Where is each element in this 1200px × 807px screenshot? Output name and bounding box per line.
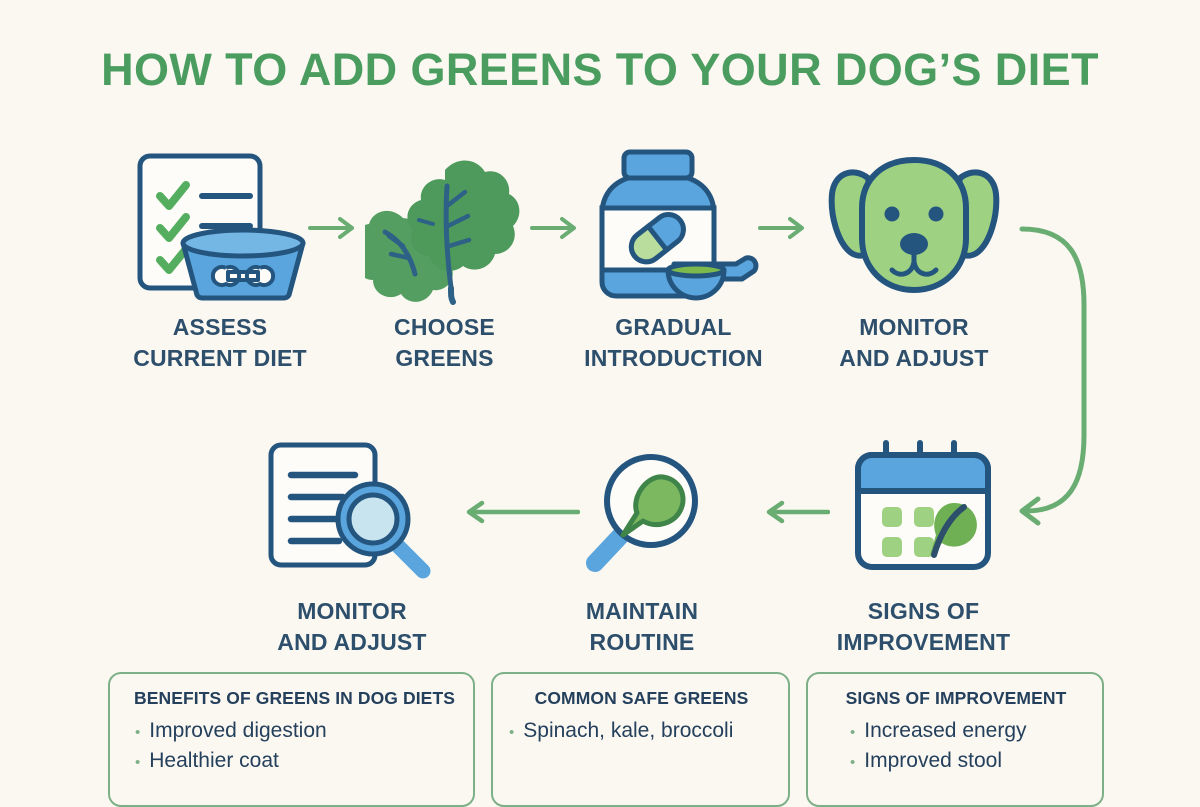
bullet-icon: • bbox=[850, 755, 855, 770]
step-label: ASSESS CURRENT DIET bbox=[110, 312, 330, 373]
card-heading: BENEFITS OF GREENS IN DOG DIETS bbox=[132, 688, 457, 709]
list-item-text: Improved digestion bbox=[149, 716, 326, 746]
step-label: CHOOSE GREENS bbox=[362, 312, 527, 373]
info-card-common-safe-greens: COMMON SAFE GREENS • Spinach, kale, broc… bbox=[491, 672, 790, 807]
step-label: MONITOR AND ADJUST bbox=[818, 312, 1010, 373]
calendar-leaf-icon bbox=[820, 430, 1027, 590]
bullet-icon: • bbox=[135, 755, 140, 770]
bullet-icon: • bbox=[850, 725, 855, 740]
step-choose-greens: CHOOSE GREENS bbox=[362, 146, 527, 373]
info-card-signs-of-improvement: SIGNS OF IMPROVEMENT • Increased energy … bbox=[806, 672, 1104, 807]
magnifier-leaf-icon bbox=[528, 430, 756, 590]
page-title: HOW TO ADD GREENS TO YOUR DOG’S DIET bbox=[0, 44, 1200, 96]
dog-face-icon bbox=[818, 146, 1010, 306]
step-label: GRADUAL INTRODUCTION bbox=[556, 312, 791, 373]
step-gradual-introduction: GRADUAL INTRODUCTION bbox=[556, 146, 791, 373]
bullet-icon: • bbox=[135, 725, 140, 740]
list-item-text: Improved stool bbox=[864, 746, 1002, 776]
card-list: • Improved digestion • Healthier coat bbox=[135, 716, 457, 776]
list-item-text: Increased energy bbox=[864, 716, 1026, 746]
list-item: • Spinach, kale, broccoli bbox=[509, 716, 772, 746]
list-item: • Healthier coat bbox=[135, 746, 457, 776]
step-label: MONITOR AND ADJUST bbox=[243, 596, 461, 657]
document-magnifier-icon bbox=[243, 430, 461, 590]
spinach-leaves-icon bbox=[362, 146, 527, 306]
list-item: • Increased energy bbox=[850, 716, 1086, 746]
step-assess-current-diet: ASSESS CURRENT DIET bbox=[110, 146, 330, 373]
step-monitor-and-adjust-top: MONITOR AND ADJUST bbox=[818, 146, 1010, 373]
arrow-right-icon bbox=[308, 216, 360, 245]
info-card-benefits: BENEFITS OF GREENS IN DOG DIETS • Improv… bbox=[108, 672, 475, 807]
supplement-bottle-scoop-icon bbox=[556, 146, 791, 306]
arrow-right-icon bbox=[758, 216, 810, 245]
step-label: SIGNS OF IMPROVEMENT bbox=[820, 596, 1027, 657]
list-item-text: Healthier coat bbox=[149, 746, 279, 776]
step-signs-of-improvement: SIGNS OF IMPROVEMENT bbox=[820, 430, 1027, 657]
card-heading: SIGNS OF IMPROVEMENT bbox=[826, 688, 1086, 709]
list-item: • Improved stool bbox=[850, 746, 1086, 776]
infographic-canvas: HOW TO ADD GREENS TO YOUR DOG’S DIET ASS… bbox=[0, 0, 1200, 800]
card-list: • Increased energy • Improved stool bbox=[850, 716, 1086, 776]
step-monitor-and-adjust-bottom: MONITOR AND ADJUST bbox=[243, 430, 461, 657]
list-item: • Improved digestion bbox=[135, 716, 457, 746]
list-item-text: Spinach, kale, broccoli bbox=[523, 716, 733, 746]
step-maintain-routine: MAINTAIN ROUTINE bbox=[528, 430, 756, 657]
clipboard-bowl-icon bbox=[110, 146, 330, 306]
card-heading: COMMON SAFE GREENS bbox=[511, 688, 772, 709]
card-list: • Spinach, kale, broccoli bbox=[509, 716, 772, 746]
step-label: MAINTAIN ROUTINE bbox=[528, 596, 756, 657]
bullet-icon: • bbox=[509, 725, 514, 740]
